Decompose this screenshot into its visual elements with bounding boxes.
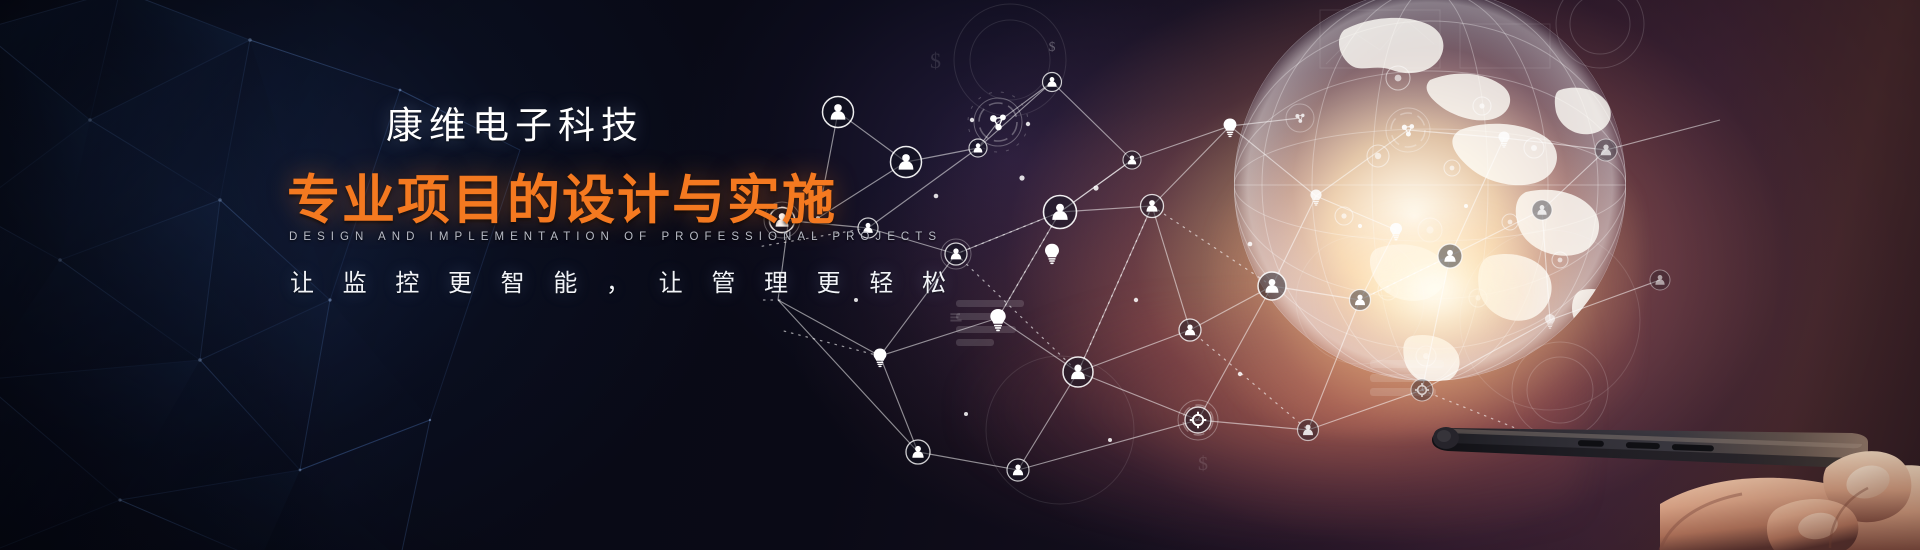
- tagline: 让 监 控 更 智 能 ， 让 管 理 更 轻 松: [290, 272, 957, 296]
- hero-banner: $: [0, 0, 1920, 550]
- svg-text:$: $: [930, 48, 941, 73]
- subtitle-english: DESIGN AND IMPLEMENTATION OF PROFESSIONA…: [289, 232, 942, 244]
- banner-copy-block: 康维电子科技 专业项目的设计与实施 DESIGN AND IMPLEMENTAT…: [0, 0, 820, 550]
- brand-name: 康维电子科技: [386, 107, 644, 144]
- headline: 专业项目的设计与实施: [287, 174, 837, 227]
- hand-holding-phone-graphic: [1360, 290, 1920, 550]
- svg-text:$: $: [1198, 453, 1208, 475]
